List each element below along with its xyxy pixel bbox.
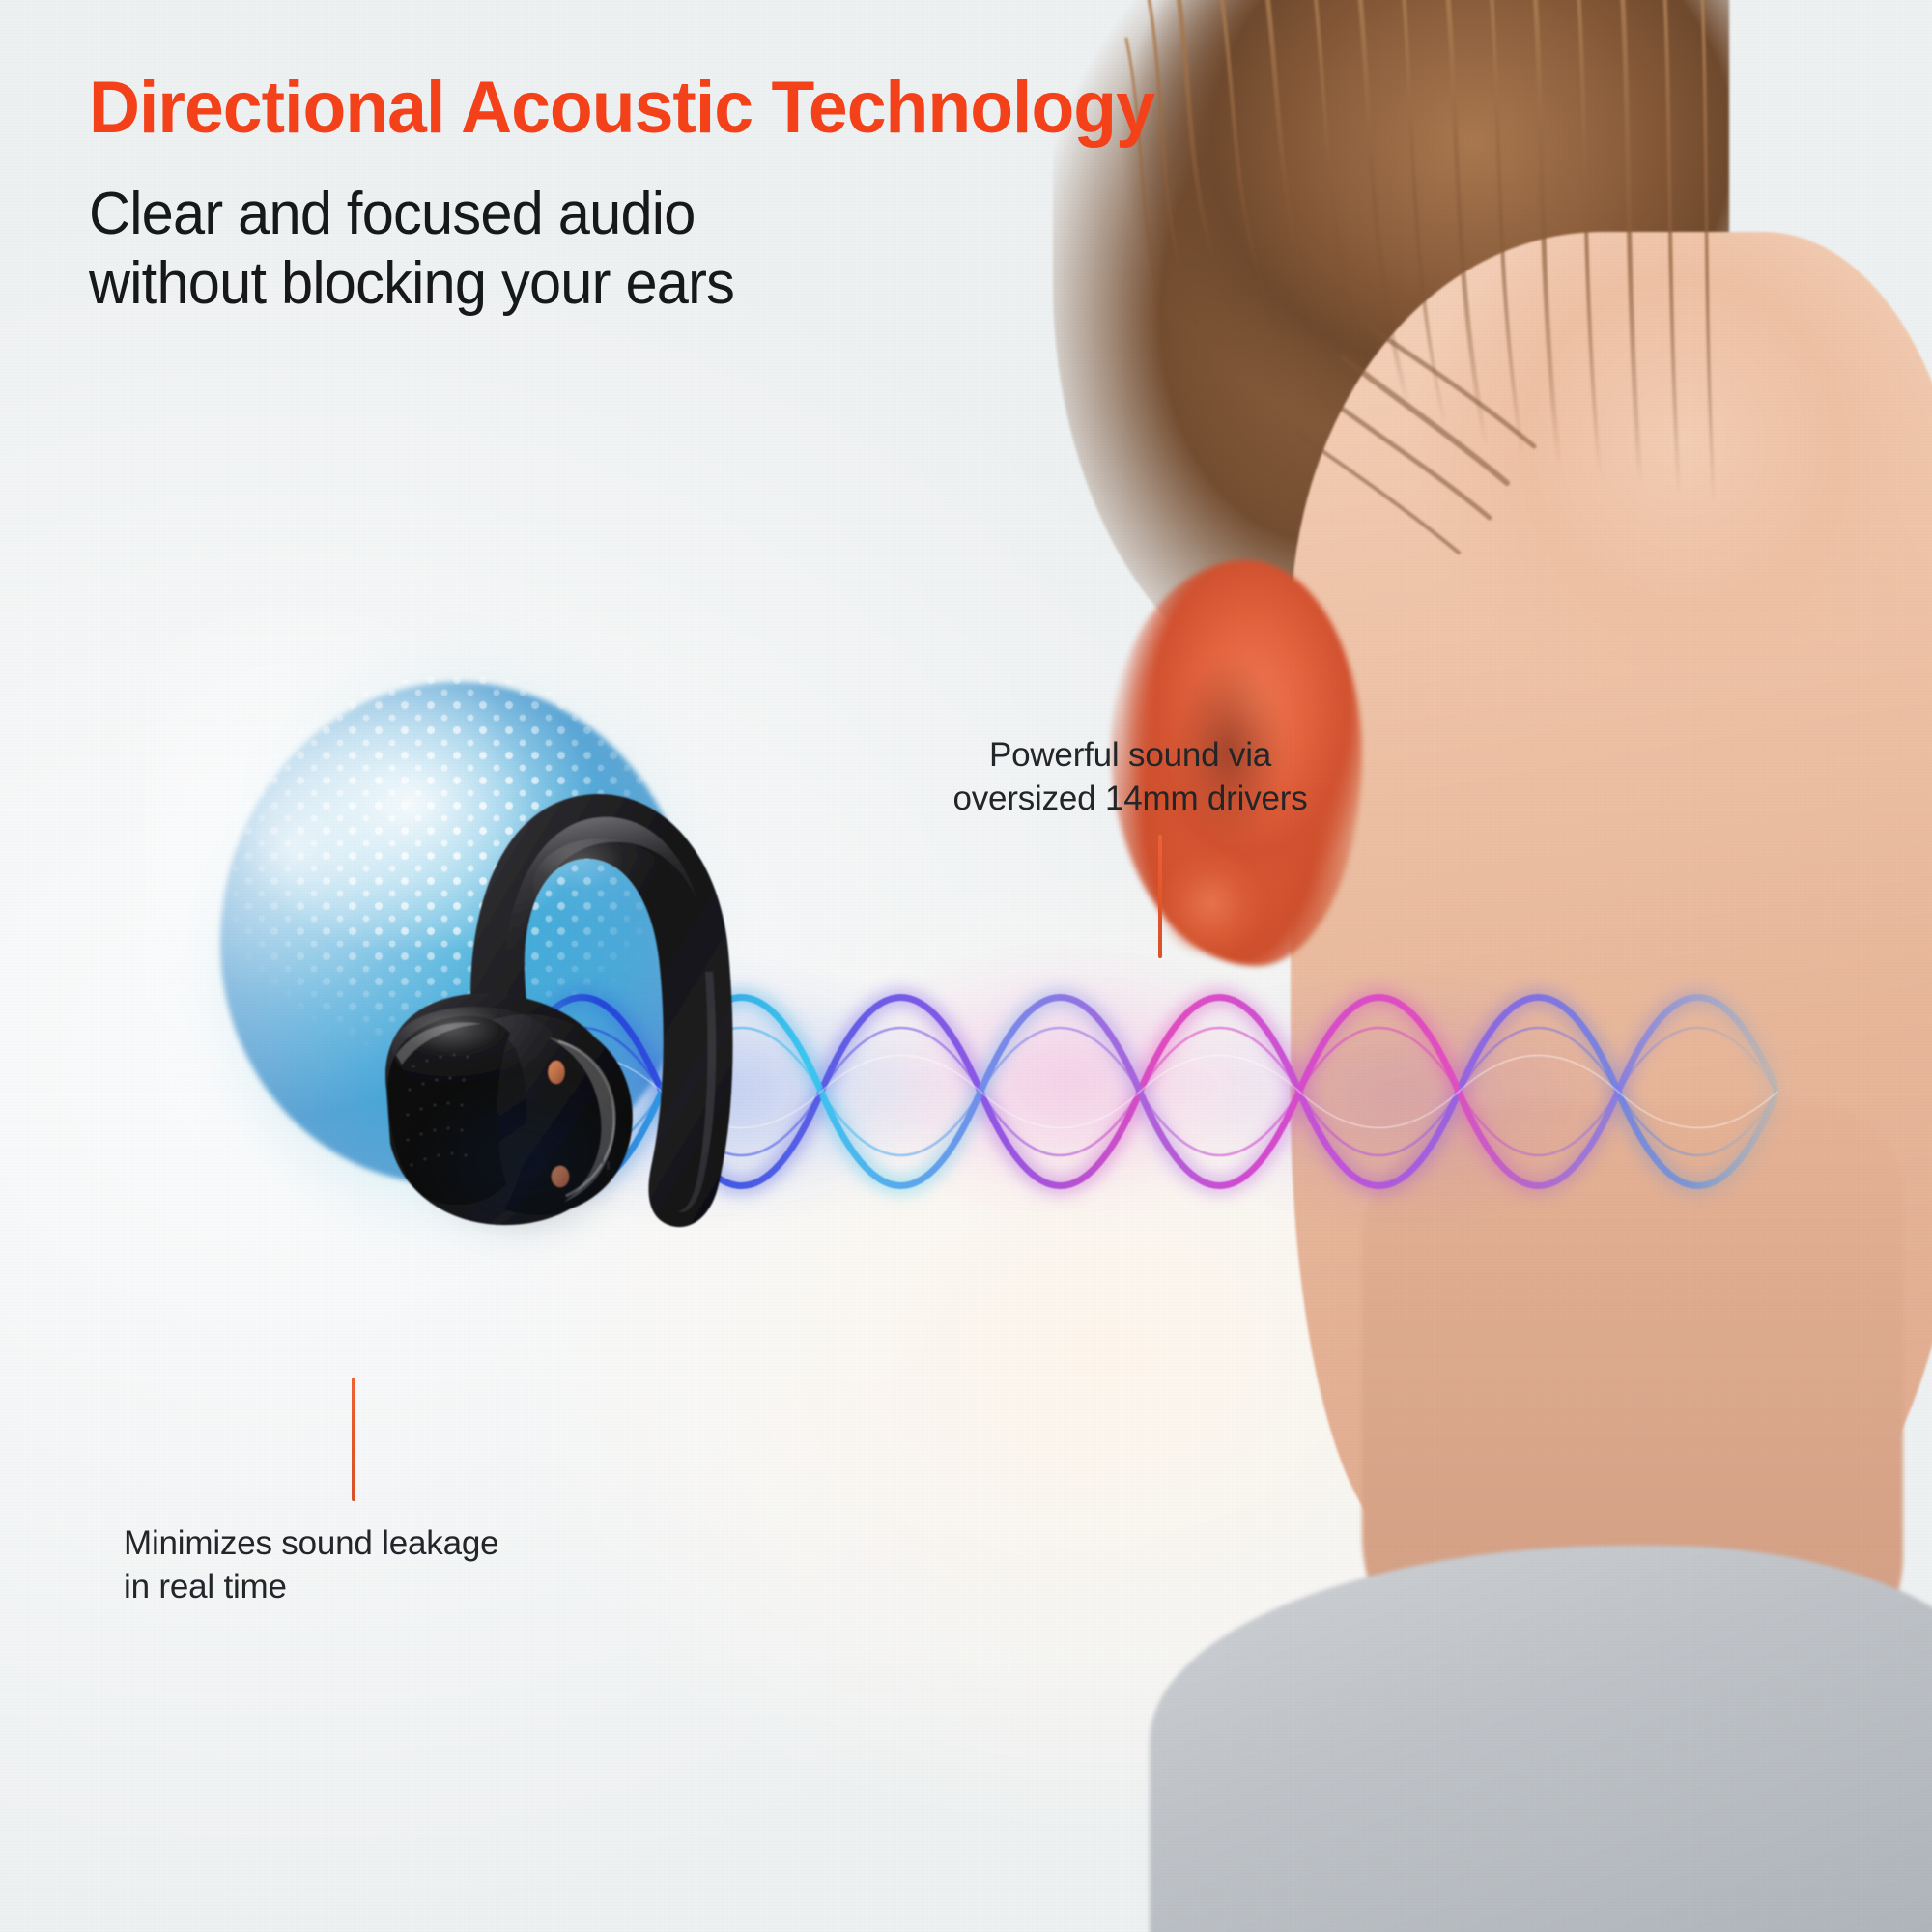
page-title: Directional Acoustic Technology	[89, 71, 1154, 145]
callout-leakage-leader-line	[352, 1378, 355, 1501]
hair-strands	[1053, 0, 1932, 773]
page-subtitle: Clear and focused audio without blocking…	[89, 180, 734, 319]
callout-drivers-leader-line	[1158, 835, 1162, 958]
callout-drivers: Powerful sound via oversized 14mm driver…	[927, 734, 1333, 821]
callout-leakage: Minimizes sound leakage in real time	[124, 1522, 665, 1609]
shirt	[1150, 1546, 1932, 1932]
earbud-shadow	[379, 1049, 668, 1271]
earbud-product	[359, 730, 804, 1271]
callout-drivers-text: Powerful sound via oversized 14mm driver…	[927, 734, 1333, 821]
callout-leakage-text: Minimizes sound leakage in real time	[124, 1522, 665, 1609]
infographic-stage: Powerful sound via oversized 14mm driver…	[0, 0, 1932, 1932]
